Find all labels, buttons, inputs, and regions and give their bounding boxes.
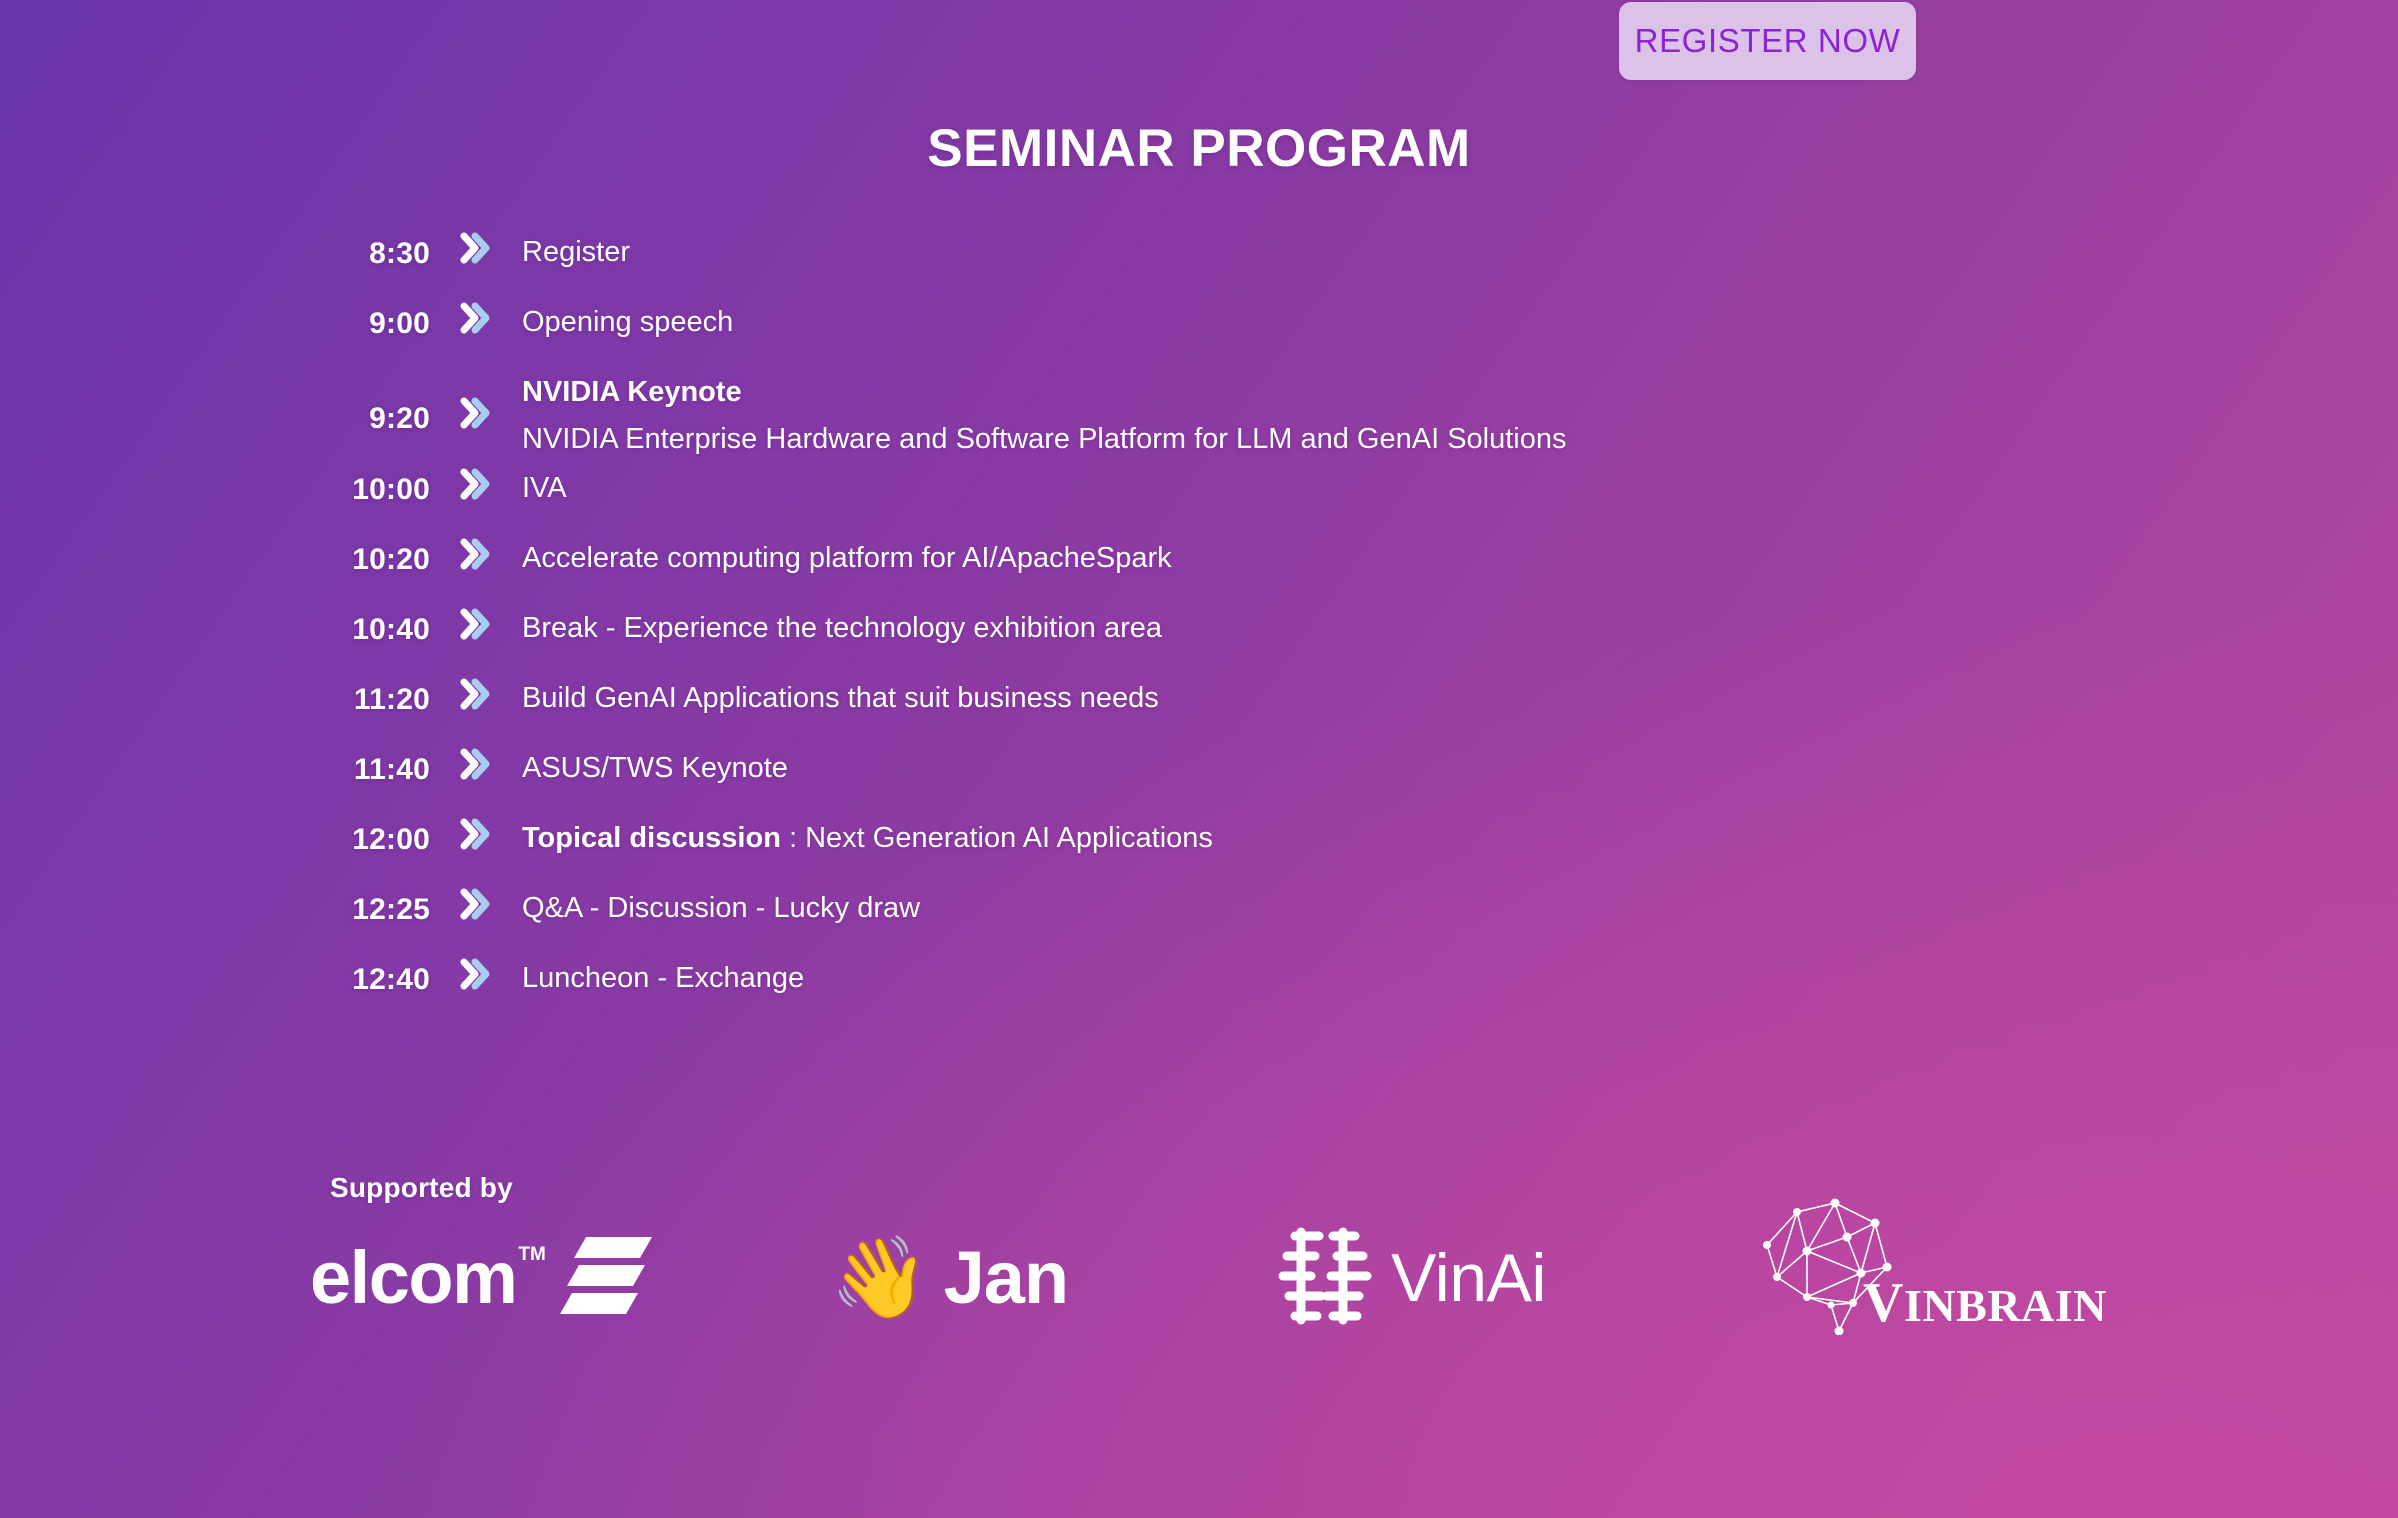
schedule-description-title: Register — [522, 236, 630, 268]
schedule-description: Register — [522, 218, 2200, 267]
schedule-time: 12:40 — [300, 944, 430, 995]
schedule-description-main: ASUS/TWS Keynote — [522, 754, 2200, 783]
double-chevron-right-icon — [430, 524, 522, 570]
schedule-description-main: NVIDIA Keynote — [522, 378, 2200, 407]
schedule-description: Q&A - Discussion - Lucky draw — [522, 874, 2200, 923]
schedule-description: Break - Experience the technology exhibi… — [522, 594, 2200, 643]
schedule-time: 10:20 — [300, 524, 430, 575]
double-chevron-right-icon — [430, 734, 522, 780]
vinbrain-wordmark-cap: V — [1863, 1272, 1904, 1334]
schedule-description: Opening speech — [522, 288, 2200, 337]
schedule-description-trailing: : Next Generation AI Applications — [781, 822, 1213, 854]
sponsor-logo-vinai: VinAi — [1275, 1218, 1546, 1338]
schedule-description-main: Register — [522, 238, 2200, 267]
sponsor-logo-jan: 👋 Jan — [830, 1218, 1068, 1338]
double-chevron-right-icon — [430, 944, 522, 990]
schedule-time: 9:20 — [300, 358, 430, 434]
schedule-row: 12:25Q&A - Discussion - Lucky draw — [300, 874, 2200, 944]
elcom-e-mark-icon — [560, 1237, 652, 1320]
schedule-description: IVA — [522, 454, 2200, 503]
double-chevron-right-icon — [430, 454, 522, 500]
seminar-schedule-list: 8:30Register9:00Opening speech9:20NVIDIA… — [300, 218, 2200, 1014]
vinai-circuit-mark-icon — [1275, 1224, 1375, 1333]
schedule-description-title: ASUS/TWS Keynote — [522, 752, 788, 784]
schedule-description-title: Opening speech — [522, 306, 733, 338]
double-chevron-right-icon — [430, 874, 522, 920]
schedule-row: 10:00IVA — [300, 454, 2200, 524]
vinbrain-wordmark: VINBRAIN — [1863, 1275, 2107, 1331]
schedule-description: Luncheon - Exchange — [522, 944, 2200, 993]
schedule-row: 11:20Build GenAI Applications that suit … — [300, 664, 2200, 734]
schedule-row: 12:40Luncheon - Exchange — [300, 944, 2200, 1014]
schedule-row: 8:30Register — [300, 218, 2200, 288]
schedule-description-subtitle: NVIDIA Enterprise Hardware and Software … — [522, 425, 2200, 454]
schedule-time: 12:00 — [300, 804, 430, 855]
schedule-row: 9:00Opening speech — [300, 288, 2200, 358]
schedule-description-main: Q&A - Discussion - Lucky draw — [522, 894, 2200, 923]
schedule-description: Topical discussion : Next Generation AI … — [522, 804, 2200, 853]
schedule-description-title: Build GenAI Applications that suit busin… — [522, 682, 1159, 714]
schedule-description: Accelerate computing platform for AI/Apa… — [522, 524, 2200, 573]
schedule-row: 11:40ASUS/TWS Keynote — [300, 734, 2200, 804]
schedule-description-main: Break - Experience the technology exhibi… — [522, 614, 2200, 643]
schedule-description: ASUS/TWS Keynote — [522, 734, 2200, 783]
schedule-description-title: Luncheon - Exchange — [522, 962, 804, 994]
schedule-description-title: Q&A - Discussion - Lucky draw — [522, 892, 920, 924]
schedule-description-title: Accelerate computing platform for AI/Apa… — [522, 542, 1172, 574]
sponsor-logo-vinbrain: VINBRAIN — [1735, 1200, 2075, 1320]
schedule-row: 10:20Accelerate computing platform for A… — [300, 524, 2200, 594]
schedule-description-main: Opening speech — [522, 308, 2200, 337]
schedule-description: Build GenAI Applications that suit busin… — [522, 664, 2200, 713]
schedule-description-main: Build GenAI Applications that suit busin… — [522, 684, 2200, 713]
double-chevron-right-icon — [430, 218, 522, 264]
schedule-description: NVIDIA KeynoteNVIDIA Enterprise Hardware… — [522, 358, 2200, 454]
page-title: SEMINAR PROGRAM — [0, 118, 2398, 179]
schedule-row: 10:40Break - Experience the technology e… — [300, 594, 2200, 664]
double-chevron-right-icon — [430, 804, 522, 850]
schedule-description-title: IVA — [522, 472, 567, 504]
schedule-time: 10:00 — [300, 454, 430, 505]
waving-hand-icon: 👋 — [830, 1238, 930, 1318]
double-chevron-right-icon — [430, 358, 522, 429]
vinbrain-wordmark-rest: INBRAIN — [1904, 1280, 2107, 1331]
schedule-time: 8:30 — [300, 218, 430, 269]
schedule-time: 11:40 — [300, 734, 430, 785]
vinai-wordmark: VinAi — [1391, 1244, 1546, 1312]
schedule-time: 9:00 — [300, 288, 430, 339]
schedule-time: 10:40 — [300, 594, 430, 645]
double-chevron-right-icon — [430, 594, 522, 640]
schedule-time: 12:25 — [300, 874, 430, 925]
trademark-symbol: TM — [518, 1244, 545, 1266]
register-now-button[interactable]: REGISTER NOW — [1619, 2, 1916, 80]
jan-wordmark: Jan — [944, 1241, 1069, 1315]
schedule-row: 12:00Topical discussion : Next Generatio… — [300, 804, 2200, 874]
double-chevron-right-icon — [430, 288, 522, 334]
schedule-description-main: Luncheon - Exchange — [522, 964, 2200, 993]
schedule-time: 11:20 — [300, 664, 430, 715]
sponsor-logo-row: elcom TM 👋 Jan — [300, 1218, 2150, 1348]
schedule-description-main: IVA — [522, 474, 2200, 503]
schedule-description-title: Break - Experience the technology exhibi… — [522, 612, 1162, 644]
sponsor-logo-elcom: elcom TM — [310, 1218, 652, 1338]
schedule-row: 9:20NVIDIA KeynoteNVIDIA Enterprise Hard… — [300, 358, 2200, 454]
elcom-wordmark: elcom — [310, 1241, 516, 1315]
schedule-description-title: NVIDIA Keynote — [522, 376, 742, 408]
schedule-description-main: Accelerate computing platform for AI/Apa… — [522, 544, 2200, 573]
schedule-description-main: Topical discussion : Next Generation AI … — [522, 824, 2200, 853]
double-chevron-right-icon — [430, 664, 522, 710]
schedule-description-title: Topical discussion — [522, 822, 781, 854]
supported-by-label: Supported by — [330, 1172, 513, 1204]
